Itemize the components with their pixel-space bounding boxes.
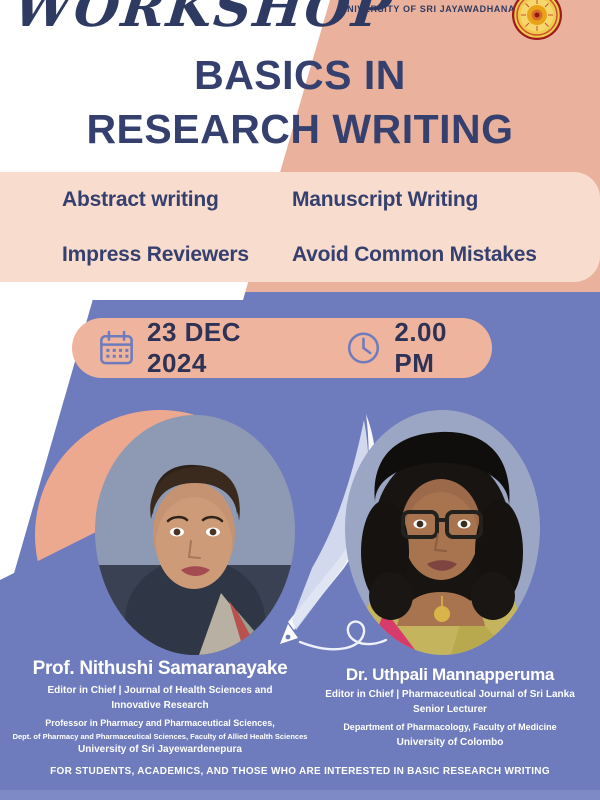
speaker-info-left: Prof. Nithushi Samaranayake Editor in Ch… xyxy=(0,658,320,757)
topic-item-avoid-common-mistakes: Avoid Common Mistakes xyxy=(292,243,600,267)
title-line-2: RESEARCH WRITING xyxy=(0,102,600,156)
speaker-position-left: Professor in Pharmacy and Pharmaceutical… xyxy=(0,717,320,731)
speaker-name-right: Dr. Uthpali Mannapperuma xyxy=(300,665,600,685)
topic-item-manuscript-writing: Manuscript Writing xyxy=(292,188,600,212)
speaker-university-right: University of Colombo xyxy=(300,735,600,750)
calendar-icon xyxy=(98,329,135,367)
datetime-pill: 23 DEC 2024 2.00 PM xyxy=(72,318,492,378)
speaker-university-left: University of Sri Jayewardenepura xyxy=(0,742,320,757)
footer-divider-band xyxy=(0,790,600,800)
speaker-department-right: Department of Pharmacology, Faculty of M… xyxy=(300,721,600,735)
poster-title: BASICS IN RESEARCH WRITING xyxy=(0,48,600,156)
speaker-photo-nithushi-samaranayake xyxy=(95,415,295,655)
speaker-department-left: Dept. of Pharmacy and Pharmaceutical Sci… xyxy=(0,731,320,742)
time-group: 2.00 PM xyxy=(345,317,492,379)
title-line-1: BASICS IN xyxy=(0,48,600,102)
footer-audience-text: FOR STUDENTS, ACADEMICS, AND THOSE WHO A… xyxy=(0,766,600,777)
workshop-script-heading: WORKSHOP xyxy=(11,0,397,39)
speaker-role-left-line2: Innovative Research xyxy=(0,699,320,714)
speaker-name-left: Prof. Nithushi Samaranayake xyxy=(0,658,320,680)
topic-item-abstract-writing: Abstract writing xyxy=(62,188,292,212)
date-group: 23 DEC 2024 xyxy=(98,317,304,379)
clock-icon xyxy=(345,329,382,367)
speaker-info-right: Dr. Uthpali Mannapperuma Editor in Chief… xyxy=(300,665,600,750)
speaker-role-right-line2: Senior Lecturer xyxy=(300,703,600,718)
event-time: 2.00 PM xyxy=(394,317,492,379)
speaker-photo-uthpali-mannapperuma xyxy=(345,410,540,655)
event-date: 23 DEC 2024 xyxy=(147,317,304,379)
topic-item-impress-reviewers: Impress Reviewers xyxy=(62,243,292,267)
workshop-poster: WORKSHOP UNIVERSITY OF SRI JAYAWADHANAPU… xyxy=(0,0,600,800)
speaker-role-right-line1: Editor in Chief | Pharmaceutical Journal… xyxy=(300,688,600,703)
topics-list: Abstract writing Manuscript Writing Impr… xyxy=(0,172,600,282)
speaker-role-left-line1: Editor in Chief | Journal of Health Scie… xyxy=(0,684,320,699)
